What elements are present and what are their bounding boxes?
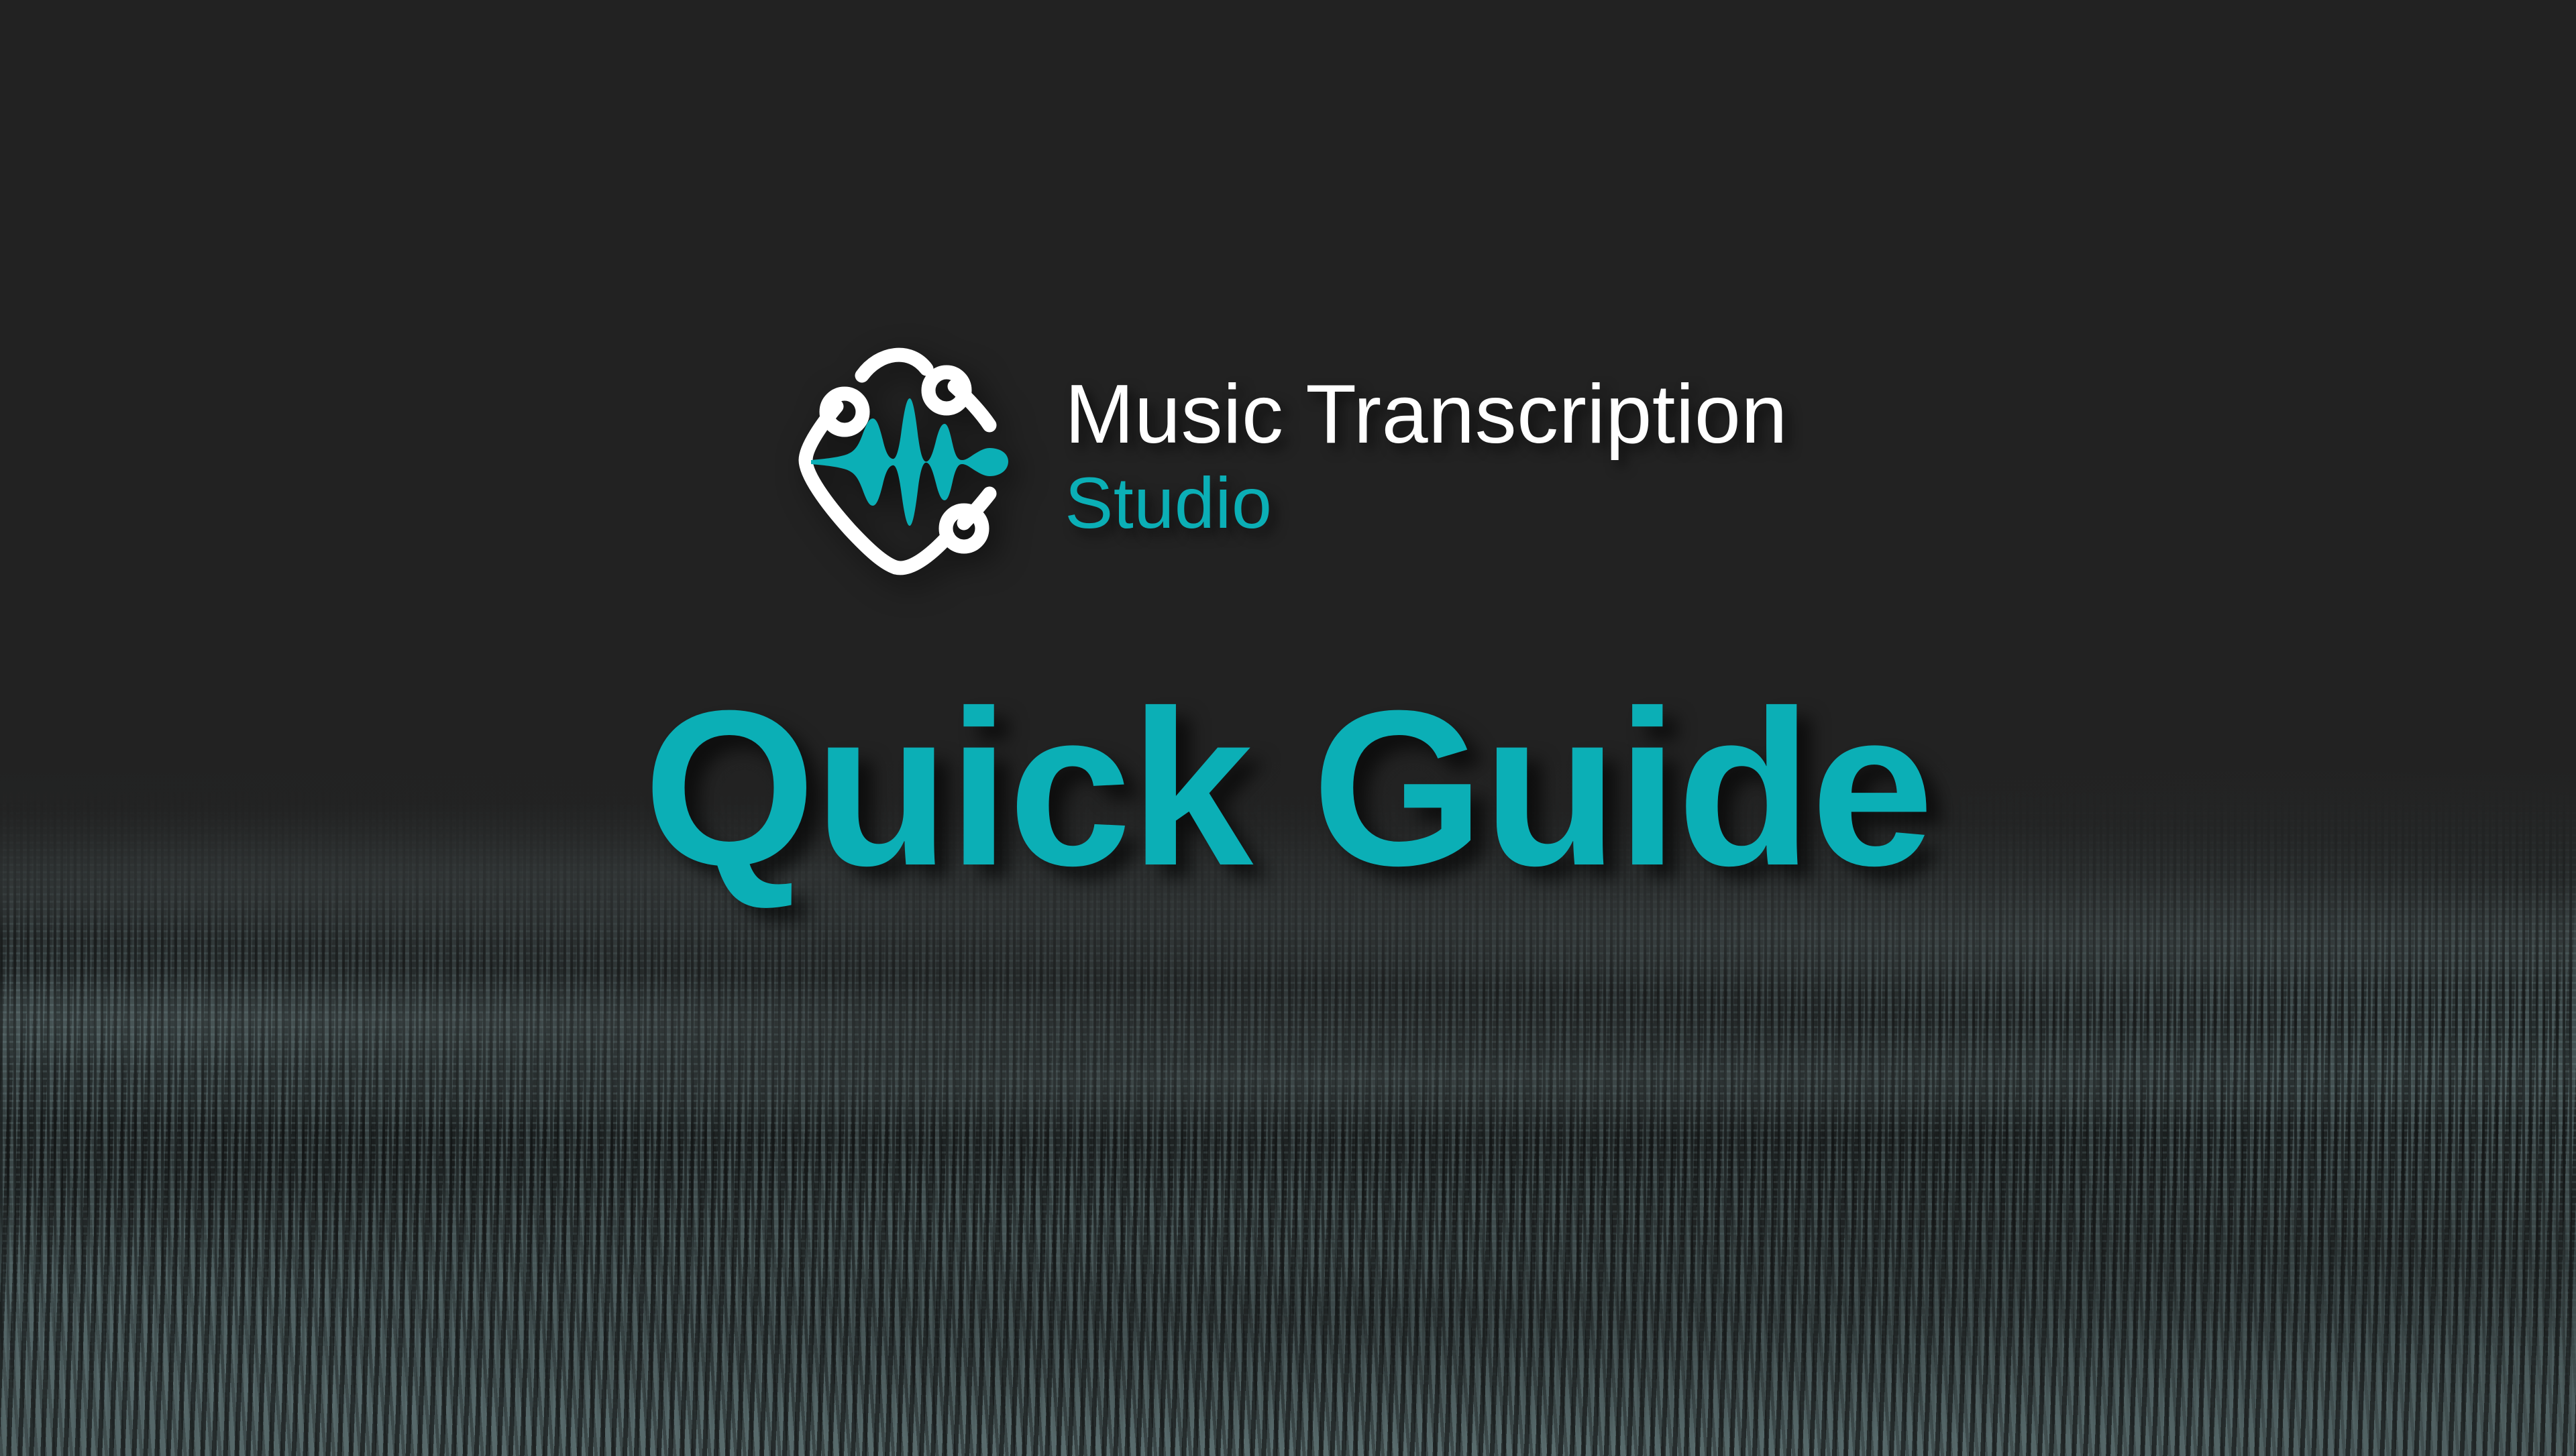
music-transcription-studio-logo-icon	[788, 334, 1030, 582]
brand-wordmark: Music Transcription Studio	[1065, 372, 1788, 543]
brand-title-secondary: Studio	[1065, 463, 1272, 544]
brand-title-primary: Music Transcription	[1065, 372, 1788, 457]
page-title: Quick Guide	[0, 677, 2576, 899]
title-card: Music Transcription Studio Quick Guide	[0, 0, 2576, 1456]
brand-lockup: Music Transcription Studio	[0, 334, 2576, 582]
